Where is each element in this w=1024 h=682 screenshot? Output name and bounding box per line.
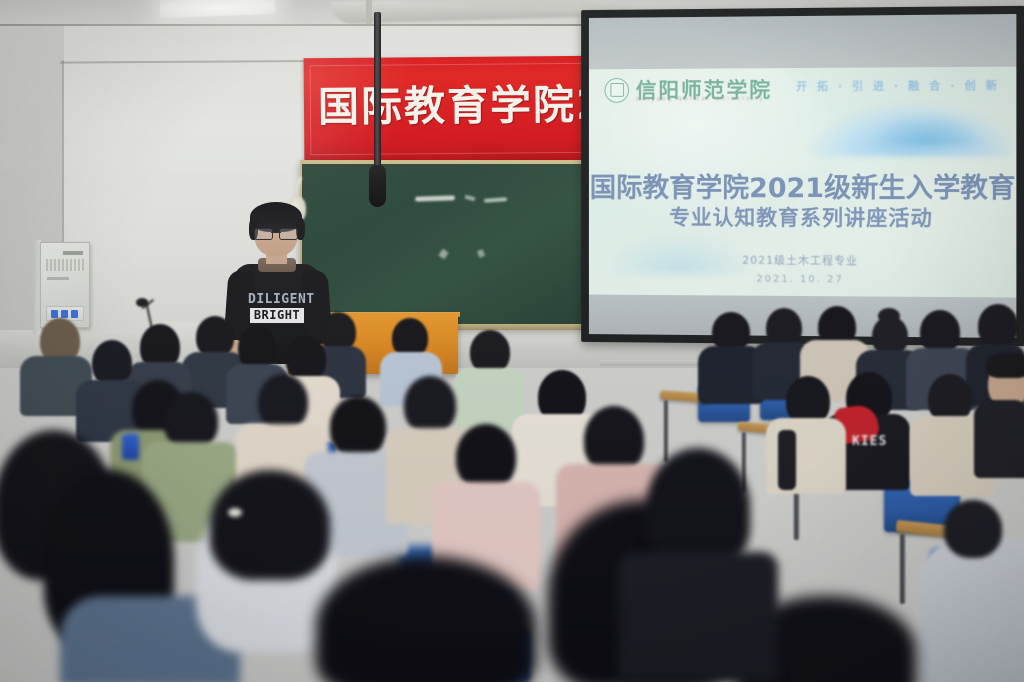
- audience-body: [236, 424, 328, 516]
- slide-date-line: 2021. 10. 27: [589, 273, 1016, 287]
- wall-control-unit: [40, 242, 90, 328]
- slide-slogan: 开 拓 · 引 进 · 融 合 · 创 新: [796, 77, 1000, 94]
- hanging-microphone-head: [369, 165, 386, 207]
- armrest-desk: [924, 595, 1024, 618]
- seat: [760, 378, 814, 420]
- seat: [930, 548, 1024, 608]
- audience-head: [584, 406, 644, 474]
- seat-leg: [794, 478, 799, 540]
- audience-head-foreground: [316, 556, 536, 682]
- audience-body: [142, 442, 240, 542]
- audience-body: [766, 418, 846, 494]
- speaker-presenter: DILIGENT BRIGHT: [222, 206, 332, 376]
- wall-unit-led: [71, 310, 78, 318]
- wall-unit-bar: [63, 251, 83, 255]
- desk-microphone-head: [136, 298, 148, 307]
- audience-head: [538, 370, 586, 424]
- red-scarf: [834, 403, 881, 444]
- university-name-en: Xinyang Normal University: [636, 96, 765, 103]
- speaker-hand: [228, 340, 244, 358]
- slide-subtitle: 专业认知教育系列讲座活动: [589, 202, 1016, 233]
- audience-body-foreground: [60, 596, 240, 682]
- audience-head: [944, 500, 1002, 558]
- screen-top-strip: [589, 14, 1016, 69]
- audience-body: [126, 362, 192, 420]
- wall-unit-led: [51, 310, 58, 318]
- seat: [244, 486, 334, 526]
- armrest-desk: [896, 520, 977, 540]
- audience-body-foreground: [618, 552, 778, 682]
- audience-head: [164, 392, 218, 450]
- audience-head-foreground: [646, 448, 750, 568]
- audience-head: [786, 376, 830, 426]
- slide-hill-graphic-inner: [866, 113, 988, 146]
- lecture-hall-photo: 国际教育学院2021级 信阳师范学院 Xinyang Normal Unive: [0, 0, 1024, 682]
- audience-body: [974, 400, 1024, 478]
- audience-head: [928, 374, 972, 424]
- armrest-desk: [660, 390, 711, 402]
- audience-body: [386, 428, 478, 524]
- audience-body: [272, 376, 340, 438]
- audience-hair-foreground: [210, 470, 330, 580]
- audience-head: [404, 376, 456, 434]
- jacket-print: KIES: [852, 434, 908, 450]
- seat: [884, 480, 960, 532]
- seat: [236, 520, 300, 564]
- audience-body: [304, 452, 408, 556]
- red-banner: 国际教育学院2021级: [304, 56, 600, 164]
- armrest-desk: [738, 422, 795, 436]
- audience-head: [258, 374, 308, 430]
- audience-body: [110, 430, 206, 528]
- sweater-text-line1: DILIGENT: [248, 292, 306, 308]
- seat-leg: [742, 432, 746, 492]
- seat-logo-sticker: [252, 484, 280, 512]
- audience-head-foreground: [196, 492, 336, 652]
- seat: [782, 438, 842, 484]
- wall-unit-grill: [46, 259, 84, 271]
- banner-highlight: [304, 56, 600, 164]
- audience-body: [920, 540, 1024, 682]
- hanging-microphone-rod: [374, 12, 381, 177]
- seat-leg: [900, 534, 905, 604]
- seat: [400, 546, 510, 612]
- projection-screen-surface: 信阳师范学院 Xinyang Normal University 开 拓 · 引…: [589, 14, 1016, 338]
- water-cup: [122, 434, 139, 460]
- eyeglasses-bridge: [271, 232, 281, 233]
- speaker-arm-right: [301, 269, 332, 345]
- screen-bottom-strip: [589, 295, 1016, 338]
- wall-unit-label: [47, 277, 69, 280]
- audience-body: [76, 380, 146, 442]
- seat: [118, 432, 162, 464]
- audience-body: [512, 414, 608, 506]
- chalkboard: [302, 164, 588, 326]
- projection-screen: 信阳师范学院 Xinyang Normal University 开 拓 · 引…: [581, 6, 1024, 346]
- slide-title: 国际教育学院2021级新生入学教育: [589, 166, 1016, 205]
- audience-head: [456, 424, 516, 490]
- sweater-text-line2: BRIGHT: [250, 308, 304, 323]
- audience-body: [910, 416, 994, 496]
- presentation-slide: 信阳师范学院 Xinyang Normal University 开 拓 · 引…: [589, 67, 1016, 298]
- audience-head-foreground: [736, 596, 916, 682]
- seat: [380, 628, 530, 682]
- audience-head-foreground: [44, 470, 174, 650]
- audience-body: [824, 414, 910, 490]
- audience-body: [556, 464, 668, 584]
- audience-head: [846, 372, 892, 424]
- audience-body: [432, 482, 540, 590]
- audience-body: [454, 368, 524, 430]
- audience-head-foreground: [548, 500, 738, 682]
- side-table: [150, 322, 220, 368]
- slide-department-line: 2021级土木工程专业: [589, 251, 1016, 269]
- seat: [286, 442, 336, 478]
- armrest-desk: [790, 467, 853, 483]
- audience-head: [132, 380, 184, 438]
- seat: [698, 382, 750, 422]
- audience-head: [330, 396, 386, 458]
- jacket-stripe: [778, 430, 796, 490]
- university-seal-icon: [605, 77, 629, 102]
- seat-leg: [664, 400, 668, 462]
- audience-head-foreground: [0, 430, 114, 580]
- wall-unit-led: [61, 310, 68, 318]
- floor-line: [600, 360, 1024, 366]
- hair-tie: [228, 508, 242, 517]
- seat: [432, 468, 494, 512]
